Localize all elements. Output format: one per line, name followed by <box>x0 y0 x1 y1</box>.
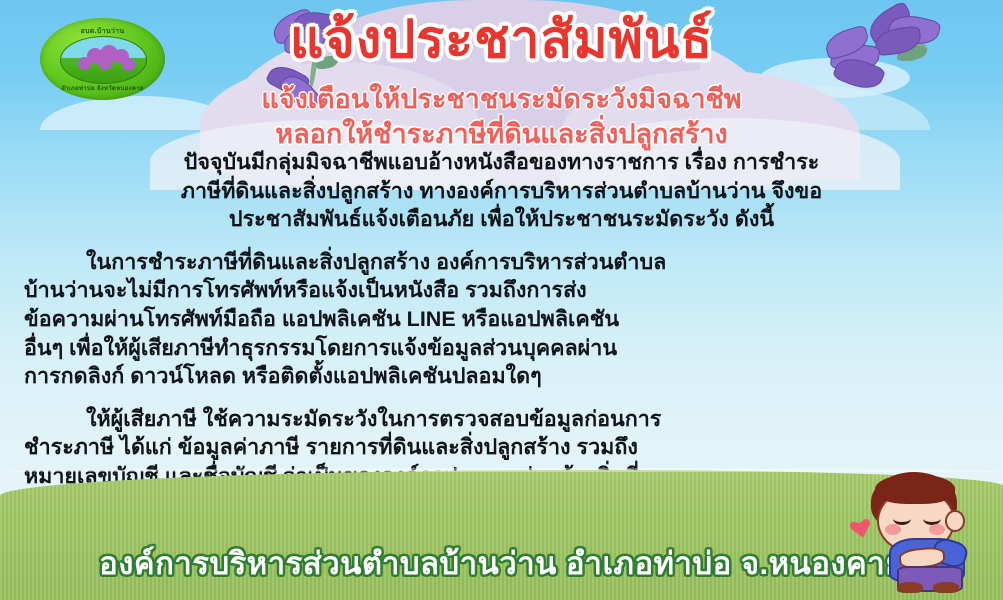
paragraph-1-line-2: ภาษีที่ดินและสิ่งปลูกสร้าง ทางองค์การบริ… <box>24 177 979 206</box>
paragraph-2-line-4: อื่นๆ เพื่อให้ผู้เสียภาษีทำธุรกรรมโดยการ… <box>24 334 979 363</box>
paragraph-1-line-3: ประชาสัมพันธ์แจ้งเตือนภัย เพื่อให้ประชาช… <box>24 205 979 234</box>
paragraph-2-line-3: ข้อความผ่านโทรศัพท์มือถือ แอปพลิเคชัน LI… <box>24 305 979 334</box>
page-subtitle: แจ้งเตือนให้ประชาชนระมัดระวังมิจฉาชีพ หล… <box>0 82 1003 151</box>
page-title: แจ้งประชาสัมพันธ์ <box>0 14 1003 66</box>
paragraph-3-line-1: ให้ผู้เสียภาษี ใช้ความระมัดระวังในการตรว… <box>24 405 979 434</box>
mascot-hair-fringe <box>875 474 955 504</box>
mascot-cheek <box>929 524 945 535</box>
paragraph-2-line-1: ในการชำระภาษีที่ดินและสิ่งปลูกสร้าง องค์… <box>24 248 979 277</box>
heart-icon <box>849 518 872 540</box>
paragraph-2-line-2: บ้านว่านจะไม่มีการโทรศัพท์หรือแจ้งเป็นหน… <box>24 276 979 305</box>
mascot-eye <box>893 512 911 525</box>
subtitle-line-2: หลอกให้ชำระภาษีที่ดินและสิ่งปลูกสร้าง <box>0 117 1003 152</box>
mascot-cheek <box>885 524 901 535</box>
mascot-ear <box>945 510 965 532</box>
paragraph-2-line-5: การกดลิงก์ ดาวน์โหลด หรือติดตั้งแอปพลิเค… <box>24 362 979 391</box>
subtitle-line-1: แจ้งเตือนให้ประชาชนระมัดระวังมิจฉาชีพ <box>0 82 1003 117</box>
mascot-eye <box>923 512 941 525</box>
bowing-boy-mascot <box>845 466 995 594</box>
mascot-shoe <box>897 582 923 593</box>
paragraph-1-line-1: ปัจจุบันมีกลุ่มมิจฉาชีพแอบอ้างหนังสือของ… <box>24 148 979 177</box>
announcement-poster: อบต.บ้านว่าน อำเภอท่าบ่อ จังหวัดหนองคาย … <box>0 0 1003 600</box>
paragraph-3-line-2: ชำระภาษี ได้แก่ ข้อมูลค่าภาษี รายการที่ด… <box>24 433 979 462</box>
paragraph-1: ปัจจุบันมีกลุ่มมิจฉาชีพแอบอ้างหนังสือของ… <box>24 148 979 234</box>
paragraph-2: ในการชำระภาษีที่ดินและสิ่งปลูกสร้าง องค์… <box>24 248 979 391</box>
mascot-shoe <box>933 582 959 593</box>
